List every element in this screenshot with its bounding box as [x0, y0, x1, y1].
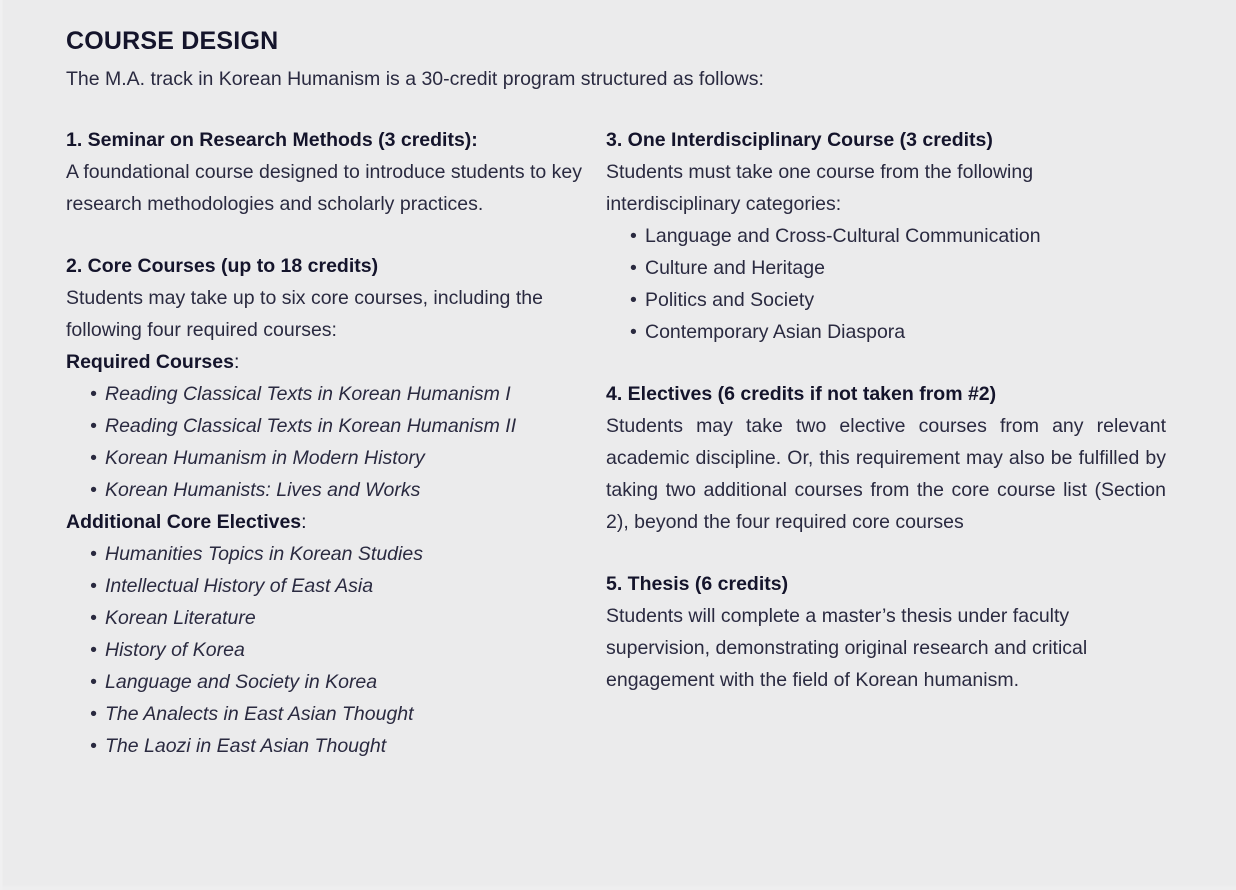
page-title: COURSE DESIGN: [66, 24, 1180, 58]
list-item: Culture and Heritage: [606, 252, 1166, 284]
interdisciplinary-categories-list: Language and Cross-Cultural Communicatio…: [606, 220, 1166, 348]
section-thesis: 5. Thesis (6 credits) Students will comp…: [606, 568, 1166, 696]
list-item: Reading Classical Texts in Korean Humani…: [66, 410, 606, 442]
section-5-body: Students will complete a master’s thesis…: [606, 600, 1166, 696]
section-4-heading: 4. Electives (6 credits if not taken fro…: [606, 378, 1166, 410]
left-column: 1. Seminar on Research Methods (3 credit…: [66, 124, 606, 762]
additional-core-electives-subheading: Additional Core Electives:: [66, 506, 606, 538]
section-4-body: Students may take two elective courses f…: [606, 410, 1166, 538]
list-item: Reading Classical Texts in Korean Humani…: [66, 378, 606, 410]
required-courses-subheading-colon: :: [234, 351, 239, 373]
list-item: Intellectual History of East Asia: [66, 570, 606, 602]
list-item: Korean Humanists: Lives and Works: [66, 474, 606, 506]
additional-core-electives-list: Humanities Topics in Korean Studies Inte…: [66, 538, 606, 762]
list-item: History of Korea: [66, 634, 606, 666]
section-2-body: Students may take up to six core courses…: [66, 282, 606, 346]
right-column: 3. One Interdisciplinary Course (3 credi…: [606, 124, 1166, 762]
section-3-heading: 3. One Interdisciplinary Course (3 credi…: [606, 124, 1166, 156]
section-core-courses: 2. Core Courses (up to 18 credits) Stude…: [66, 250, 606, 762]
section-3-body: Students must take one course from the f…: [606, 156, 1166, 220]
list-item: Humanities Topics in Korean Studies: [66, 538, 606, 570]
section-1-heading: 1. Seminar on Research Methods (3 credit…: [66, 124, 606, 156]
section-interdisciplinary-course: 3. One Interdisciplinary Course (3 credi…: [606, 124, 1166, 348]
section-5-heading: 5. Thesis (6 credits): [606, 568, 1166, 600]
two-column-layout: 1. Seminar on Research Methods (3 credit…: [66, 124, 1180, 762]
list-item: The Analects in East Asian Thought: [66, 698, 606, 730]
section-seminar-research-methods: 1. Seminar on Research Methods (3 credit…: [66, 124, 606, 220]
list-item: Language and Society in Korea: [66, 666, 606, 698]
section-electives: 4. Electives (6 credits if not taken fro…: [606, 378, 1166, 538]
additional-core-electives-subheading-label: Additional Core Electives: [66, 511, 301, 533]
required-courses-list: Reading Classical Texts in Korean Humani…: [66, 378, 606, 506]
list-item: The Laozi in East Asian Thought: [66, 730, 606, 762]
page-intro-text: The M.A. track in Korean Humanism is a 3…: [66, 64, 1180, 94]
required-courses-subheading-label: Required Courses: [66, 351, 234, 373]
required-courses-subheading: Required Courses:: [66, 346, 606, 378]
list-item: Language and Cross-Cultural Communicatio…: [606, 220, 1166, 252]
course-design-panel: COURSE DESIGN The M.A. track in Korean H…: [0, 0, 1236, 890]
list-item: Contemporary Asian Diaspora: [606, 316, 1166, 348]
section-1-body: A foundational course designed to introd…: [66, 156, 606, 220]
list-item: Korean Literature: [66, 602, 606, 634]
list-item: Korean Humanism in Modern History: [66, 442, 606, 474]
additional-core-electives-subheading-colon: :: [301, 511, 306, 533]
section-2-heading: 2. Core Courses (up to 18 credits): [66, 250, 606, 282]
list-item: Politics and Society: [606, 284, 1166, 316]
